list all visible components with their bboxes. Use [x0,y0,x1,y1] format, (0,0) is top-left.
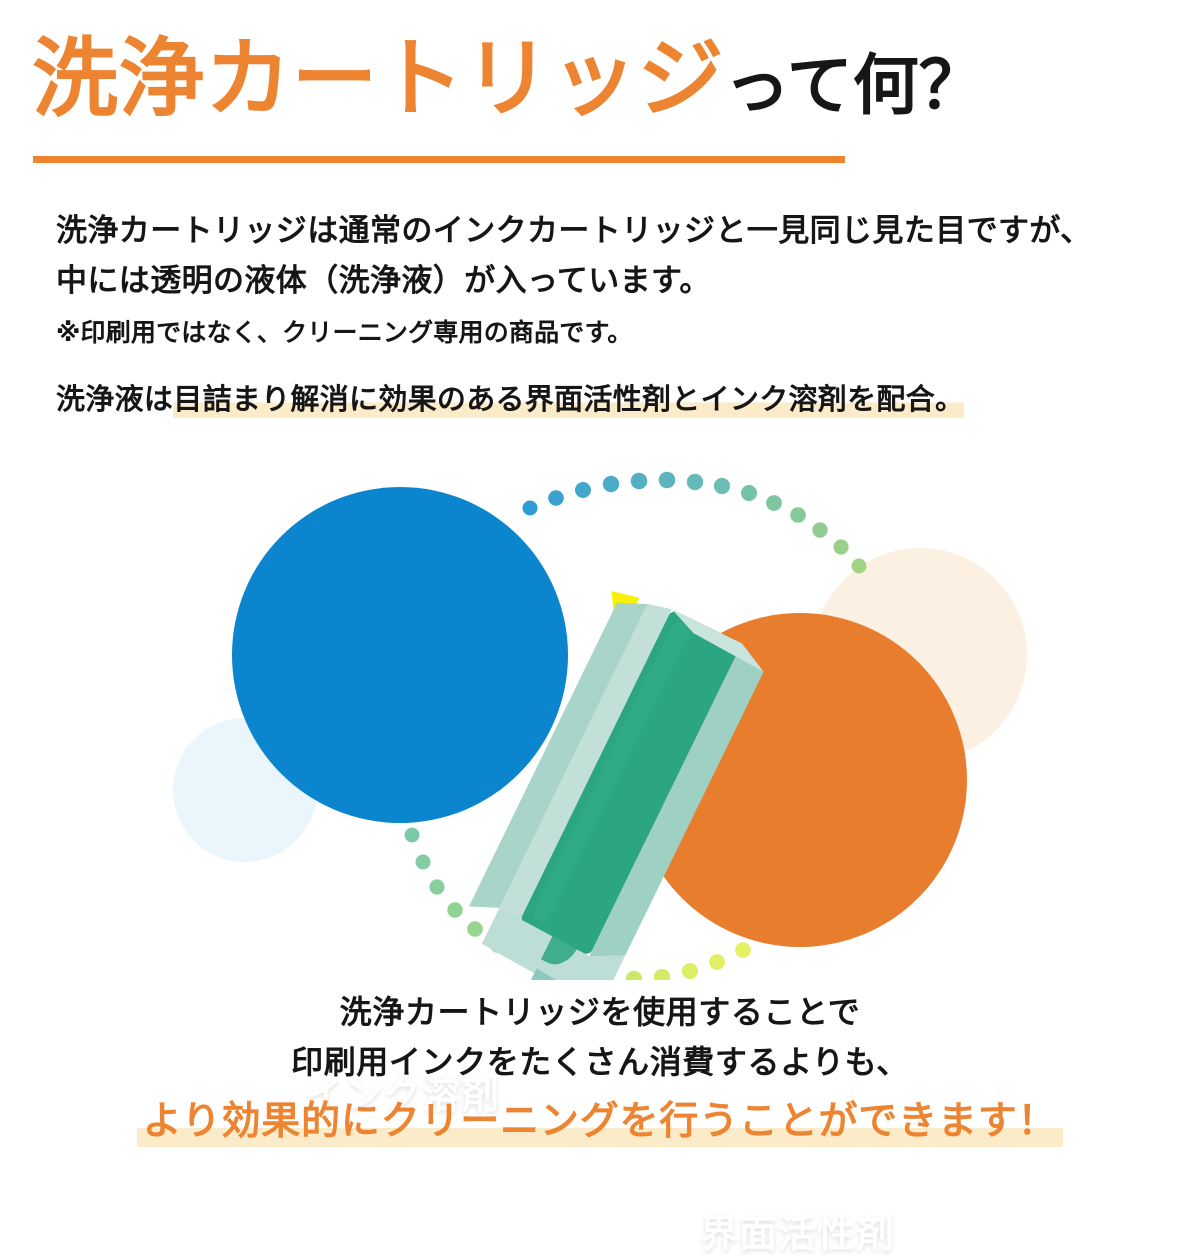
intro-line-1: 洗浄カートリッジは通常のインクカートリッジと一見同じ見た目ですが、 [56,206,1166,256]
conclusion-line-2: 印刷用インクをたくさん消費するよりも、 [0,1038,1200,1088]
title-tail-text: って何？ [724,48,985,122]
diagram-stage: インク溶剤 界面活性剤 [0,440,1200,980]
conclusion-emphasis: より効果的にクリーニングを行うことができます！ [0,1093,1200,1152]
orange-circle-label: 界面活性剤 [700,1203,895,1258]
blue-circle-ink-solvent[interactable] [232,487,568,823]
diagram-svg [0,440,1200,980]
lead-sentence: 洗浄液は目詰まり解消に効果のある界面活性剤とインク溶剤を配合。 [56,376,964,418]
title-underline [33,156,845,163]
conclusion-block: 洗浄カートリッジを使用することで 印刷用インクをたくさん消費するよりも、 より効… [0,988,1200,1152]
lead-highlighted-text: 目詰まり解消に効果のある界面活性剤とインク溶剤を配合。 [173,384,964,418]
conclusion-line-1: 洗浄カートリッジを使用することで [0,988,1200,1038]
lead-plain-text: 洗浄液は [56,384,173,416]
intro-line-2: 中には透明の液体（洗浄液）が入っています。 [56,256,1166,306]
title-line: 洗浄カートリッジって何？ [32,34,1172,125]
intro-paragraph: 洗浄カートリッジは通常のインクカートリッジと一見同じ見た目ですが、 中には透明の… [56,206,1166,353]
title-main-text: 洗浄カートリッジ [32,31,724,127]
dotted-arc-top [523,472,867,574]
intro-note: ※印刷用ではなく、クリーニング専用の商品です。 [56,315,1166,353]
infographic-page: 洗浄カートリッジって何？ 洗浄カートリッジは通常のインクカートリッジと一見同じ見… [0,0,1200,1200]
conclusion-emphasis-text: より効果的にクリーニングを行うことができます！ [137,1100,1064,1147]
page-title: 洗浄カートリッジって何？ [32,34,1172,125]
